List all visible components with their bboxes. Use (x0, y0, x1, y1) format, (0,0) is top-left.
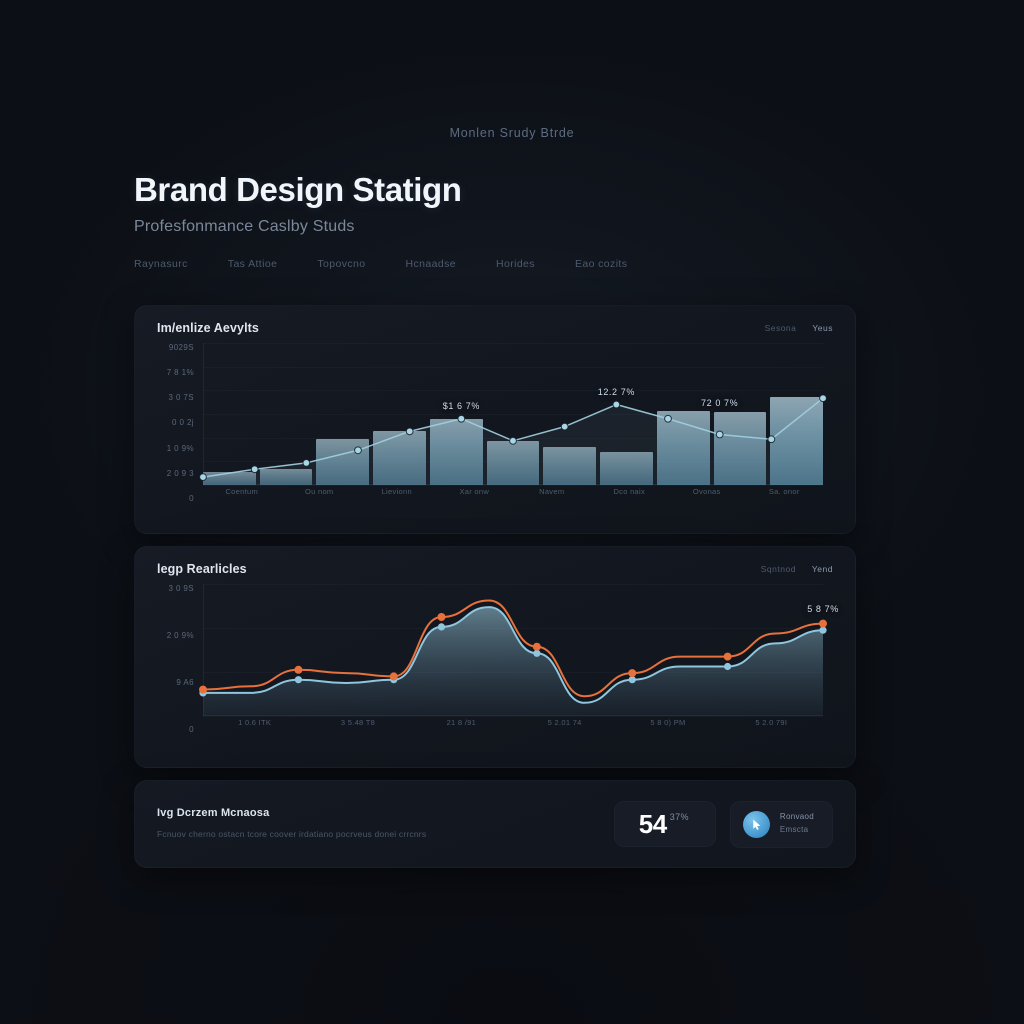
orange-marker-7[interactable] (533, 643, 541, 651)
chart-range-toggle: Sesona Yeus (765, 323, 833, 333)
footer-inner: Ivg Dcrzem Mcnaosa Fcnuov cherno ostacn … (135, 781, 855, 867)
area-chart-plot: 3 0 9S 2 0 9% 9 A6 0 5 8 7% 1 0.6 ITK3 5… (157, 584, 833, 734)
nav-item-1[interactable]: Tas Attioe (228, 258, 278, 270)
nav-item-3[interactable]: Hcnaadse (405, 258, 455, 270)
stat-value: 54 (639, 811, 667, 837)
nav-item-2[interactable]: Topovcno (317, 258, 365, 270)
orange-marker-0[interactable] (199, 686, 207, 694)
grid-line (203, 716, 823, 717)
blue-marker-7[interactable] (533, 650, 540, 657)
blue-marker-2[interactable] (295, 676, 302, 683)
y-axis-labels-2: 3 0 9S 2 0 9% 9 A6 0 (157, 584, 203, 734)
orange-marker-11[interactable] (724, 653, 732, 661)
x-tick-7: Sa. onor (746, 487, 824, 503)
chart-card-header-2: legp Rearlicles Sqntnod Yend (135, 547, 855, 576)
plot-area-2: 5 8 7% (203, 584, 823, 716)
page-header: Brand Design Statign Profesfonmance Casl… (134, 172, 894, 270)
trend-marker-0[interactable] (200, 474, 207, 481)
main-nav: Raynasurc Tas Attioe Topovcno Hcnaadse H… (134, 258, 894, 270)
x-axis-labels-2: 1 0.6 ITK3 5.48 T821 8 /915 2.01 745 8 0… (203, 718, 823, 734)
x-tick-1: Ou nom (281, 487, 359, 503)
x-tick-4: Navem (513, 487, 591, 503)
y-tick-5: 2 0 9 3 (167, 469, 194, 478)
data-label-2-0: 5 8 7% (807, 604, 839, 614)
toggle-option-1[interactable]: Yeus (812, 323, 833, 333)
grid-line (203, 343, 823, 344)
x-tick-6: Ovonas (668, 487, 746, 503)
page-title: Brand Design Statign (134, 172, 894, 209)
action-label-line1: Ronvaod (780, 812, 814, 821)
grid-line (203, 628, 823, 629)
trend-marker-9[interactable] (665, 415, 672, 422)
x-tick-2: Lievionn (358, 487, 436, 503)
blue-marker-9[interactable] (629, 676, 636, 683)
nav-item-5[interactable]: Eao cozits (575, 258, 627, 270)
y-tick-2-2: 9 A6 (176, 678, 194, 687)
grid-line (203, 438, 823, 439)
trend-marker-3[interactable] (355, 447, 362, 454)
y-tick-2-3: 0 (189, 725, 194, 734)
trend-marker-7[interactable] (561, 423, 568, 430)
orange-marker-4[interactable] (390, 672, 398, 680)
footer-summary-card: Ivg Dcrzem Mcnaosa Fcnuov cherno ostacn … (134, 780, 856, 868)
grid-line (203, 672, 823, 673)
chart-title: Im/enlize Aevylts (157, 321, 259, 335)
action-label-line2: Emscta (780, 825, 808, 834)
chart-range-toggle-2: Sqntnod Yend (761, 564, 833, 574)
nav-item-0[interactable]: Raynasurc (134, 258, 188, 270)
page-subtitle: Profesfonmance Caslby Studs (134, 218, 894, 236)
grid-line (203, 485, 823, 486)
footer-text-block: Ivg Dcrzem Mcnaosa Fcnuov cherno ostacn … (157, 807, 426, 841)
chart-card-engagement: legp Rearlicles Sqntnod Yend 3 0 9S 2 0 … (134, 546, 856, 768)
y-tick-0: 9029S (169, 343, 194, 352)
stat-badge: 54 37% (614, 801, 716, 847)
x-tick-3: Xar onw (436, 487, 514, 503)
y-tick-2-1: 2 0 9% (167, 631, 194, 640)
footer-actions: 54 37% Ronvaod Emscta (614, 801, 833, 848)
footer-title: Ivg Dcrzem Mcnaosa (157, 807, 426, 819)
grid-line (203, 461, 823, 462)
x-axis-labels: CoentumOu nomLievionnXar onwNavemDco nai… (203, 487, 823, 503)
toggle-option-2-1[interactable]: Yend (812, 564, 833, 574)
orange-marker-9[interactable] (628, 669, 636, 677)
grid-line (203, 367, 823, 368)
grid-line (203, 414, 823, 415)
x-tick-3: 5 2.01 74 (513, 718, 616, 734)
y-tick-1: 7 8 1% (167, 368, 194, 377)
trend-marker-8[interactable] (613, 401, 620, 408)
data-label-0: $1 6 7% (443, 401, 480, 411)
y-tick-2-0: 3 0 9S (168, 584, 194, 593)
x-tick-5: 5 2.0 79I (720, 718, 823, 734)
x-tick-0: Coentum (203, 487, 281, 503)
toggle-option-0[interactable]: Sesona (765, 323, 797, 333)
data-label-1: 12.2 7% (598, 387, 635, 397)
eyebrow-label: Monlen Srudy Btrde (0, 126, 1024, 140)
footer-description: Fcnuov cherno ostacn tcore coover irdati… (157, 828, 426, 841)
grid-line (203, 584, 823, 585)
x-tick-0: 1 0.6 ITK (203, 718, 306, 734)
y-tick-4: 1 0 9% (167, 444, 194, 453)
chart-card-impressions: Im/enlize Aevylts Sesona Yeus 9029S 7 8 … (134, 305, 856, 534)
trend-marker-4[interactable] (406, 428, 413, 435)
trend-marker-12[interactable] (820, 395, 827, 402)
chart-card-header: Im/enlize Aevylts Sesona Yeus (135, 306, 855, 335)
cursor-pointer-icon (743, 811, 770, 838)
grid-line (203, 390, 823, 391)
x-tick-5: Dco naix (591, 487, 669, 503)
blue-marker-11[interactable] (724, 663, 731, 670)
orange-marker-5[interactable] (437, 613, 445, 621)
y-axis-labels: 9029S 7 8 1% 3 0 7S 0 0 2j 1 0 9% 2 0 9 … (157, 343, 203, 503)
trend-marker-1[interactable] (251, 466, 258, 473)
data-label-2: 72 0 7% (701, 398, 738, 408)
toggle-option-2-0[interactable]: Sqntnod (761, 564, 796, 574)
bar-chart-plot: 9029S 7 8 1% 3 0 7S 0 0 2j 1 0 9% 2 0 9 … (157, 343, 833, 503)
y-tick-6: 0 (189, 494, 194, 503)
y-tick-2: 3 0 7S (168, 393, 194, 402)
nav-item-4[interactable]: Horides (496, 258, 535, 270)
chart-title-2: legp Rearlicles (157, 562, 247, 576)
dashboard-page: Monlen Srudy Btrde Brand Design Statign … (0, 0, 1024, 1024)
x-tick-4: 5 8 0) PM (616, 718, 719, 734)
y-tick-3: 0 0 2j (172, 418, 194, 427)
plot-area: $1 6 7%12.2 7%72 0 7% (203, 343, 823, 485)
blue-marker-5[interactable] (438, 623, 445, 630)
action-label: Ronvaod Emscta (780, 811, 814, 837)
series-overlay (203, 584, 823, 716)
trend-marker-5[interactable] (458, 415, 465, 422)
x-tick-1: 3 5.48 T8 (306, 718, 409, 734)
orange-marker-13[interactable] (819, 620, 827, 628)
stat-suffix: 37% (670, 812, 689, 822)
action-button[interactable]: Ronvaod Emscta (730, 801, 833, 848)
x-tick-2: 21 8 /91 (410, 718, 513, 734)
